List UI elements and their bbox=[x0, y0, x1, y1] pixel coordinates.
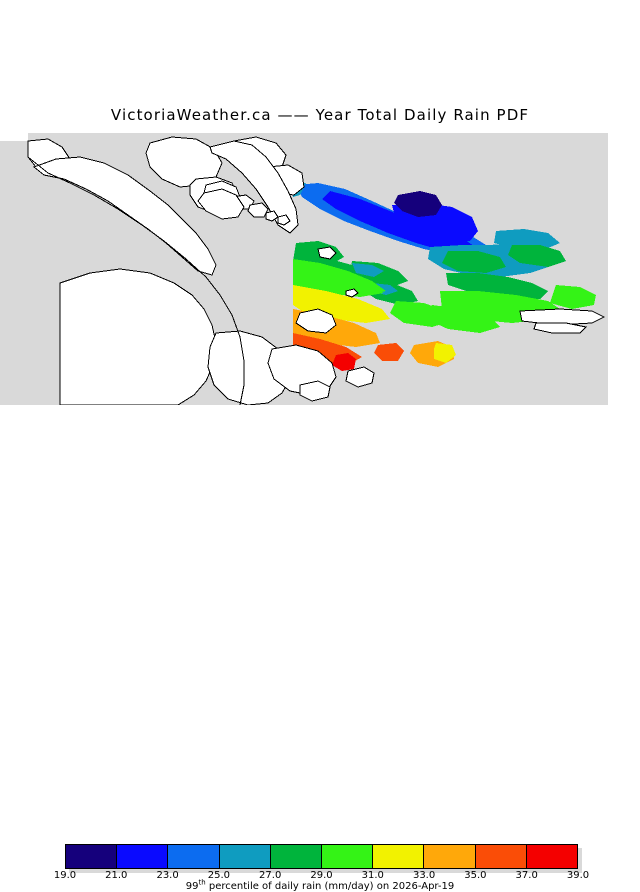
colorbar-segment-8 bbox=[476, 845, 527, 868]
colorbar-segment-9 bbox=[527, 845, 577, 868]
caption-superscript: th bbox=[199, 879, 206, 887]
colorbar-tick-39.0: 39.0 bbox=[548, 870, 608, 881]
colorbar-area: 19.021.023.025.027.029.031.033.035.037.0… bbox=[0, 420, 640, 480]
map-background-left-fill bbox=[0, 141, 40, 405]
colorbar-segment-4 bbox=[271, 845, 322, 868]
colorbar-segment-6 bbox=[373, 845, 424, 868]
colorbar-segment-7 bbox=[424, 845, 475, 868]
rain-map bbox=[0, 133, 608, 405]
colorbar-segment-2 bbox=[168, 845, 219, 868]
map-canvas bbox=[0, 133, 608, 405]
colorbar-segment-0 bbox=[66, 845, 117, 868]
colorbar-caption: 99th percentile of daily rain (mm/day) o… bbox=[0, 881, 640, 892]
colorbar-segment-5 bbox=[322, 845, 373, 868]
page-title: VictoriaWeather.ca —— Year Total Daily R… bbox=[0, 106, 640, 124]
colorbar-segment-3 bbox=[220, 845, 271, 868]
colorbar-segment-1 bbox=[117, 845, 168, 868]
colorbar bbox=[65, 844, 578, 869]
